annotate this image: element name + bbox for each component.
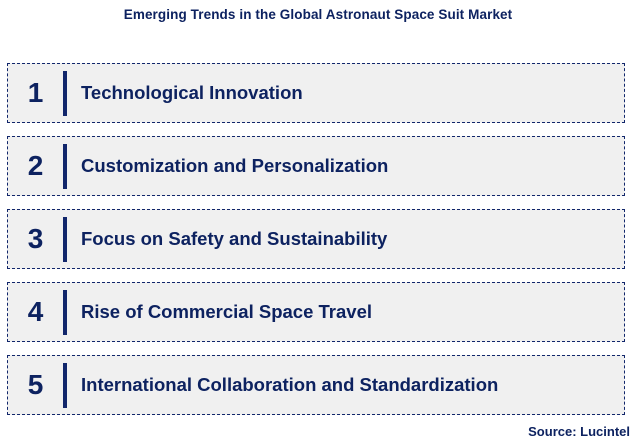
trend-label: International Collaboration and Standard… (67, 374, 624, 396)
list-item[interactable]: 5 International Collaboration and Standa… (7, 355, 625, 415)
page-title: Emerging Trends in the Global Astronaut … (0, 7, 636, 22)
list-item[interactable]: 1 Technological Innovation (7, 63, 625, 123)
infographic-page: Emerging Trends in the Global Astronaut … (0, 0, 636, 445)
trend-rank-number: 4 (8, 298, 63, 326)
trend-rank-number: 5 (8, 371, 63, 399)
trend-rank-number: 1 (8, 79, 63, 107)
list-item[interactable]: 4 Rise of Commercial Space Travel (7, 282, 625, 342)
list-item[interactable]: 2 Customization and Personalization (7, 136, 625, 196)
trend-rank-number: 2 (8, 152, 63, 180)
trend-label: Customization and Personalization (67, 155, 624, 177)
trend-label: Technological Innovation (67, 82, 624, 104)
trend-label: Rise of Commercial Space Travel (67, 301, 624, 323)
trend-label: Focus on Safety and Sustainability (67, 228, 624, 250)
trend-list: 1 Technological Innovation 2 Customizati… (7, 63, 625, 415)
trend-rank-number: 3 (8, 225, 63, 253)
list-item[interactable]: 3 Focus on Safety and Sustainability (7, 209, 625, 269)
source-attribution: Source: Lucintel (528, 424, 630, 439)
